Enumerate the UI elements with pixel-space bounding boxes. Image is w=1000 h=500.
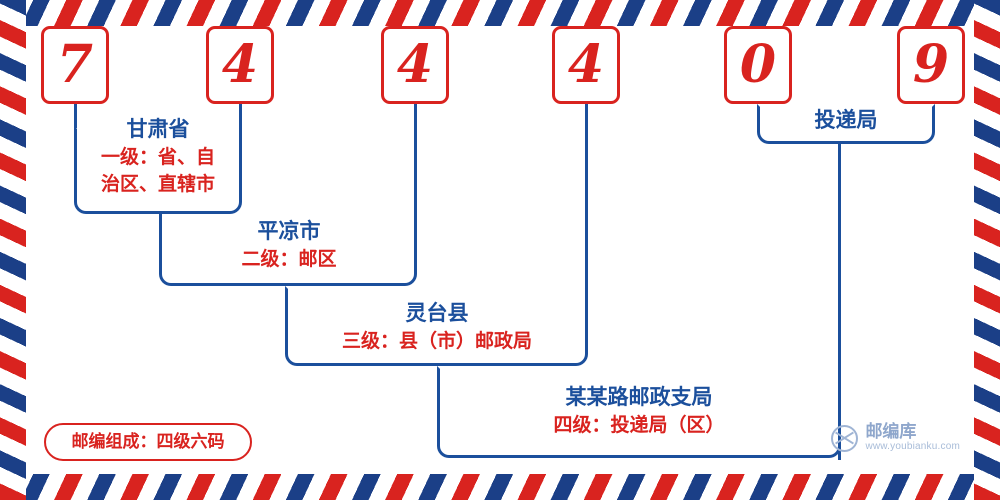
envelope-border-right — [974, 0, 1000, 500]
envelope-border-left — [0, 0, 26, 500]
digit-box-6[interactable]: 9 — [897, 26, 965, 104]
label-level4: 某某路邮政支局 四级：投递局（区） — [442, 382, 836, 439]
watermark-url: www.youbianku.com — [865, 442, 960, 453]
label-level2-title: 平凉市 — [166, 216, 412, 246]
digit-box-4[interactable]: 4 — [552, 26, 620, 104]
label-level3-sub: 三级：县（市）邮政局 — [290, 328, 584, 355]
footer-note: 邮编组成：四级六码 — [44, 423, 252, 461]
connector-delivery-stem — [838, 142, 841, 460]
label-level4-sub: 四级：投递局（区） — [442, 412, 836, 439]
digit-box-1[interactable]: 7 — [41, 26, 109, 104]
connector-digit4 — [585, 104, 588, 290]
connector-digit1 — [74, 104, 77, 128]
watermark: 邮编库 www.youbianku.com — [831, 424, 960, 452]
label-level1-sub-line2: 治区、直辖市 — [78, 171, 238, 198]
envelope-circle-icon — [831, 425, 858, 452]
watermark-name: 邮编库 — [865, 424, 960, 442]
digit-box-2[interactable]: 4 — [206, 26, 274, 104]
label-level3-title: 灵台县 — [290, 298, 584, 328]
connector-digit3 — [414, 104, 417, 219]
label-delivery: 投递局 — [760, 105, 932, 135]
digit-box-5[interactable]: 0 — [724, 26, 792, 104]
envelope-border-bottom — [0, 474, 1000, 500]
label-level1-sub-line1: 一级：省、自 — [78, 144, 238, 171]
digit-box-3[interactable]: 4 — [381, 26, 449, 104]
label-level1: 甘肃省 一级：省、自 治区、直辖市 — [78, 114, 238, 198]
watermark-texts: 邮编库 www.youbianku.com — [865, 424, 960, 452]
label-delivery-title: 投递局 — [760, 105, 932, 135]
label-level3: 灵台县 三级：县（市）邮政局 — [290, 298, 584, 355]
label-level4-title: 某某路邮政支局 — [442, 382, 836, 412]
label-level1-title: 甘肃省 — [78, 114, 238, 144]
label-level2-sub: 二级：邮区 — [166, 246, 412, 273]
postcode-diagram: 7 4 4 4 0 9 甘肃省 一级：省、自 治区、直辖市 平凉市 二级：邮区 … — [0, 0, 1000, 500]
connector-digit2 — [239, 104, 242, 130]
envelope-border-top — [0, 0, 1000, 26]
label-level2: 平凉市 二级：邮区 — [166, 216, 412, 273]
